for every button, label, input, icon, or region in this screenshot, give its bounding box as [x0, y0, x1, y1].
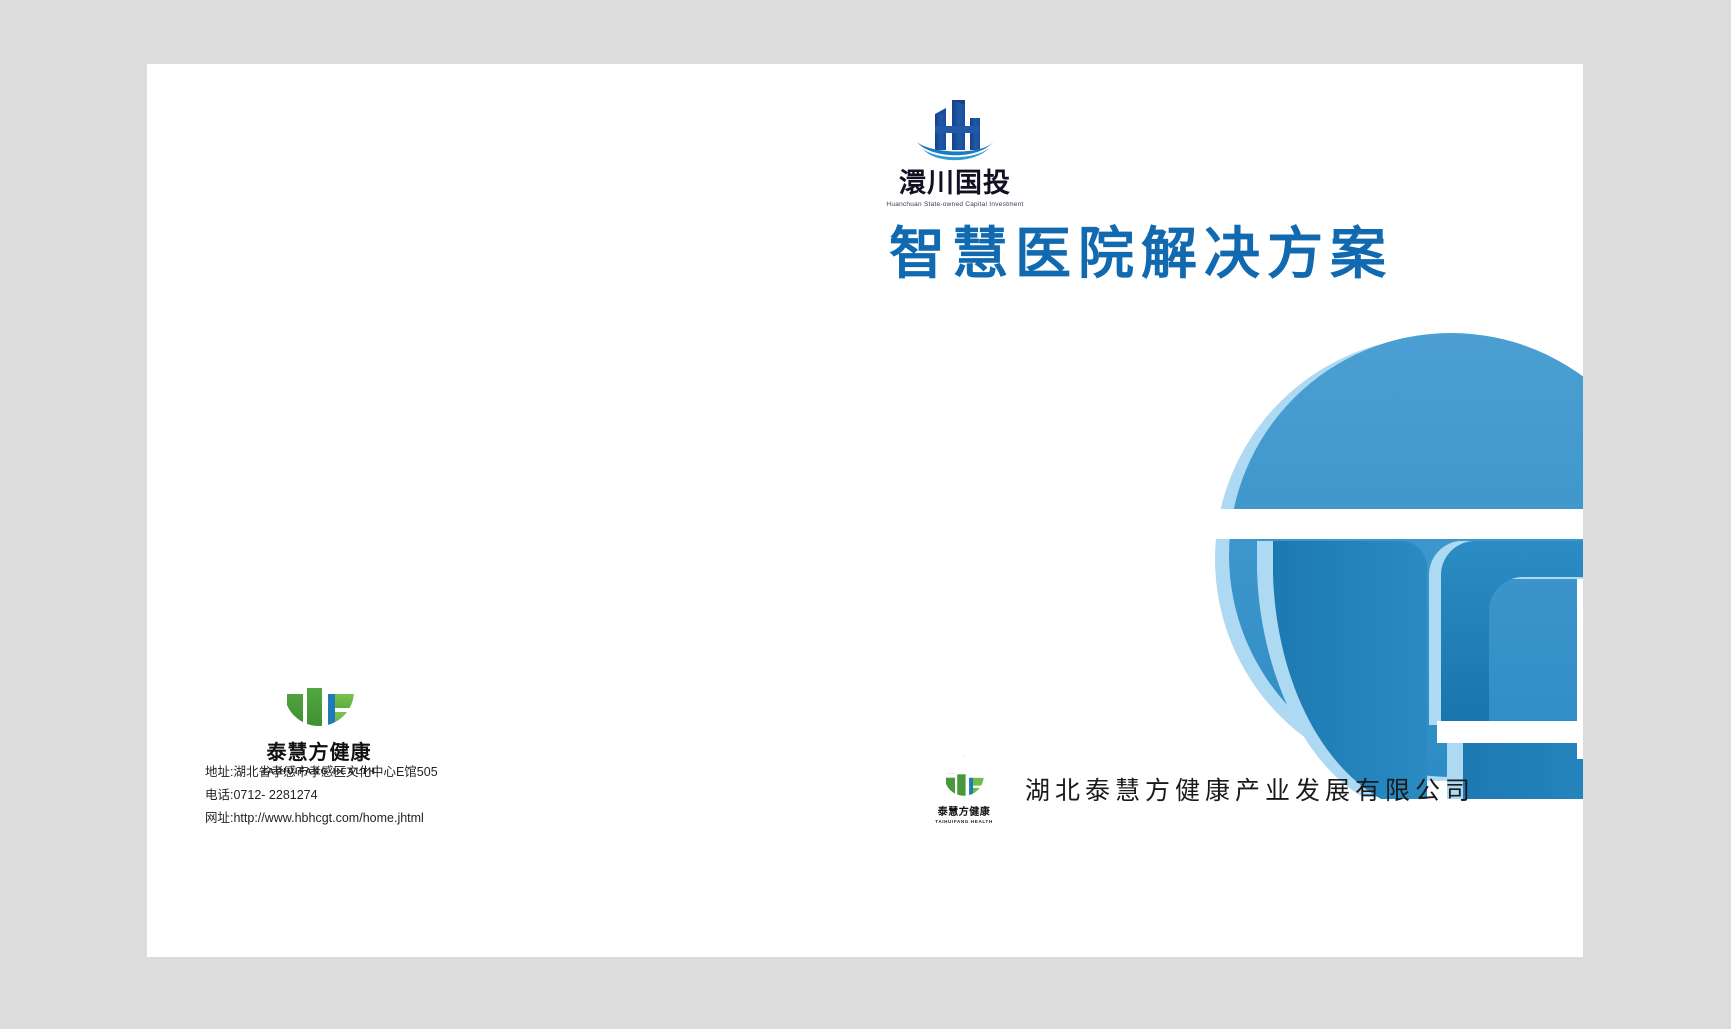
company-mark-wrap: 泰慧方健康 TAIHUIFANG HEALTH	[927, 754, 1001, 824]
company-mark-cn: 泰慧方健康	[927, 803, 1001, 818]
contact-website: 网址:http://www.hbhcgt.com/home.jhtml	[205, 807, 438, 830]
page-title: 智慧医院解决方案	[889, 226, 1393, 282]
taihuifang-circle-icon	[938, 754, 990, 798]
huanchuan-name-cn: 澴川国投	[855, 169, 1055, 199]
contact-phone: 电话:0712- 2281274	[205, 784, 438, 807]
contact-address: 地址:湖北省孝感市孝感区文化中心E馆505	[205, 761, 438, 784]
brand-block: 泰慧方健康 TAIHUIFANG HEALTH	[239, 652, 509, 776]
taihuifang-circle-icon	[273, 652, 365, 730]
company-full-name: 湖北泰慧方健康产业发展有限公司	[1025, 771, 1475, 807]
company-lockup: 泰慧方健康 TAIHUIFANG HEALTH 湖北泰慧方健康产业发展有限公司	[927, 754, 1475, 824]
huanchuan-logo: 澴川国投 Huanchuan State-owned Capital Inves…	[855, 96, 1055, 208]
building-skyline-icon	[905, 96, 1005, 168]
huanchuan-name-en: Huanchuan State-owned Capital Investment	[855, 201, 1055, 207]
brand-mark-wrap: 泰慧方健康 TAIHUIFANG HEALTH	[239, 652, 399, 776]
tf-monogram-art	[1107, 329, 1583, 799]
contact-info: 地址:湖北省孝感市孝感区文化中心E馆505 电话:0712- 2281274 网…	[205, 761, 438, 830]
company-mark-en: TAIHUIFANG HEALTH	[927, 819, 1001, 824]
brochure-page: 澴川国投 Huanchuan State-owned Capital Inves…	[147, 64, 1583, 957]
